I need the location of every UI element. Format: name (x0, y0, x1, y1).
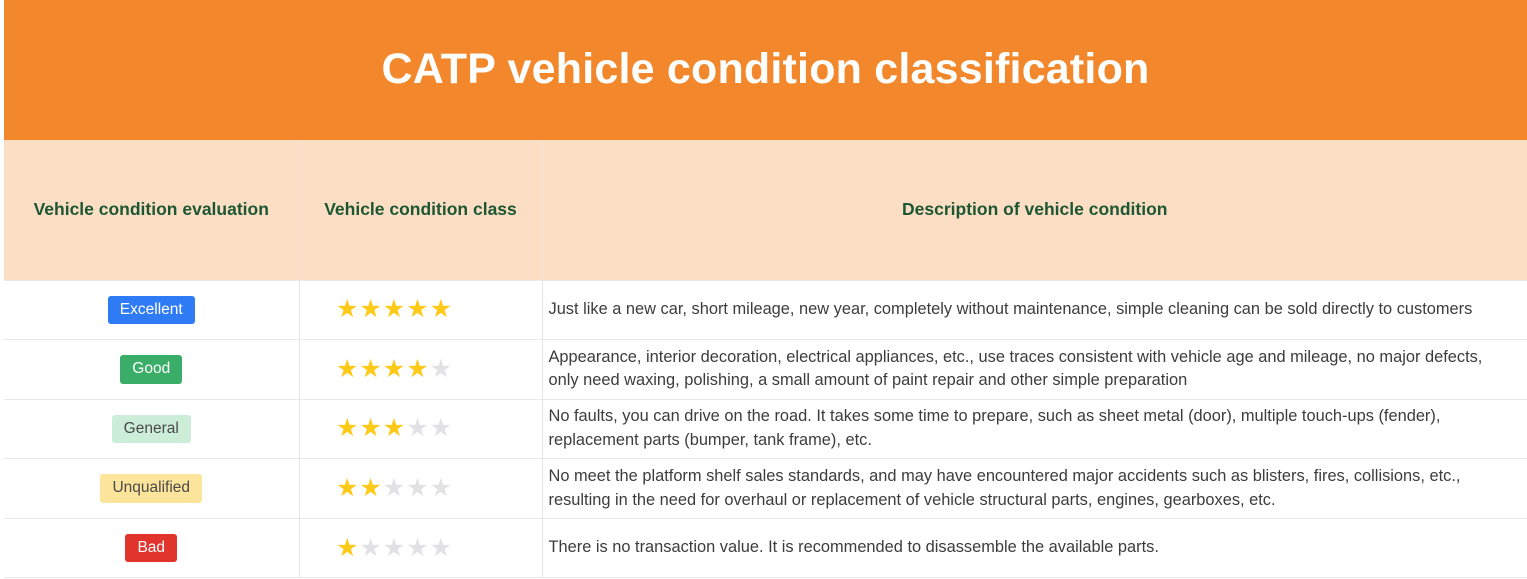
star-rating: ★★★★★ (300, 536, 542, 561)
star-filled-icon: ★ (336, 416, 359, 441)
star-filled-icon: ★ (383, 357, 406, 382)
description-text: No faults, you can drive on the road. It… (543, 405, 1527, 453)
star-empty-icon: ★ (406, 536, 429, 561)
star-empty-icon: ★ (359, 536, 382, 561)
star-filled-icon: ★ (383, 416, 406, 441)
cell-condition-class: ★★★★★ (299, 399, 542, 459)
table-header-row: Vehicle condition evaluation Vehicle con… (4, 140, 1527, 280)
vehicle-condition-table: Vehicle condition evaluation Vehicle con… (4, 140, 1527, 578)
table-body: Excellent★★★★★Just like a new car, short… (4, 280, 1527, 578)
cell-evaluation: Bad (4, 518, 299, 578)
description-text: There is no transaction value. It is rec… (543, 536, 1527, 560)
cell-description: Appearance, interior decoration, electri… (542, 340, 1527, 400)
column-header-evaluation: Vehicle condition evaluation (4, 140, 299, 280)
table-row: Unqualified★★★★★No meet the platform she… (4, 459, 1527, 519)
status-badge: Unqualified (100, 474, 202, 503)
cell-description: There is no transaction value. It is rec… (542, 518, 1527, 578)
star-filled-icon: ★ (359, 416, 382, 441)
star-empty-icon: ★ (430, 476, 453, 501)
star-rating: ★★★★★ (300, 476, 542, 501)
star-rating: ★★★★★ (300, 357, 542, 382)
title-banner: CATP vehicle condition classification (4, 0, 1527, 140)
column-header-description: Description of vehicle condition (542, 140, 1527, 280)
table-header: Vehicle condition evaluation Vehicle con… (4, 140, 1527, 280)
star-filled-icon: ★ (406, 357, 429, 382)
cell-evaluation: General (4, 399, 299, 459)
cell-condition-class: ★★★★★ (299, 459, 542, 519)
star-empty-icon: ★ (430, 536, 453, 561)
star-filled-icon: ★ (336, 536, 359, 561)
star-filled-icon: ★ (336, 476, 359, 501)
status-badge: Good (120, 355, 182, 384)
status-badge: Bad (125, 534, 177, 563)
star-filled-icon: ★ (359, 357, 382, 382)
description-text: Appearance, interior decoration, electri… (543, 346, 1527, 394)
star-filled-icon: ★ (430, 297, 453, 322)
cell-evaluation: Good (4, 340, 299, 400)
cell-description: Just like a new car, short mileage, new … (542, 280, 1527, 340)
star-empty-icon: ★ (430, 357, 453, 382)
star-filled-icon: ★ (359, 476, 382, 501)
table-row: General★★★★★No faults, you can drive on … (4, 399, 1527, 459)
description-text: No meet the platform shelf sales standar… (543, 465, 1527, 513)
cell-condition-class: ★★★★★ (299, 340, 542, 400)
star-empty-icon: ★ (430, 416, 453, 441)
star-filled-icon: ★ (359, 297, 382, 322)
cell-condition-class: ★★★★★ (299, 280, 542, 340)
star-rating: ★★★★★ (300, 416, 542, 441)
star-empty-icon: ★ (383, 476, 406, 501)
status-badge: General (112, 415, 191, 444)
cell-evaluation: Excellent (4, 280, 299, 340)
star-empty-icon: ★ (406, 416, 429, 441)
star-empty-icon: ★ (383, 536, 406, 561)
table-row: Excellent★★★★★Just like a new car, short… (4, 280, 1527, 340)
cell-description: No meet the platform shelf sales standar… (542, 459, 1527, 519)
cell-evaluation: Unqualified (4, 459, 299, 519)
star-filled-icon: ★ (336, 297, 359, 322)
column-header-class: Vehicle condition class (299, 140, 542, 280)
star-filled-icon: ★ (336, 357, 359, 382)
page-title: CATP vehicle condition classification (381, 46, 1149, 93)
star-rating: ★★★★★ (300, 297, 542, 322)
star-filled-icon: ★ (383, 297, 406, 322)
table-row: Good★★★★★Appearance, interior decoration… (4, 340, 1527, 400)
description-text: Just like a new car, short mileage, new … (543, 298, 1527, 322)
star-filled-icon: ★ (406, 297, 429, 322)
vehicle-condition-classification-page: CATP vehicle condition classification Ve… (0, 0, 1527, 579)
status-badge: Excellent (108, 296, 195, 325)
table-row: Bad★★★★★There is no transaction value. I… (4, 518, 1527, 578)
star-empty-icon: ★ (406, 476, 429, 501)
cell-description: No faults, you can drive on the road. It… (542, 399, 1527, 459)
cell-condition-class: ★★★★★ (299, 518, 542, 578)
